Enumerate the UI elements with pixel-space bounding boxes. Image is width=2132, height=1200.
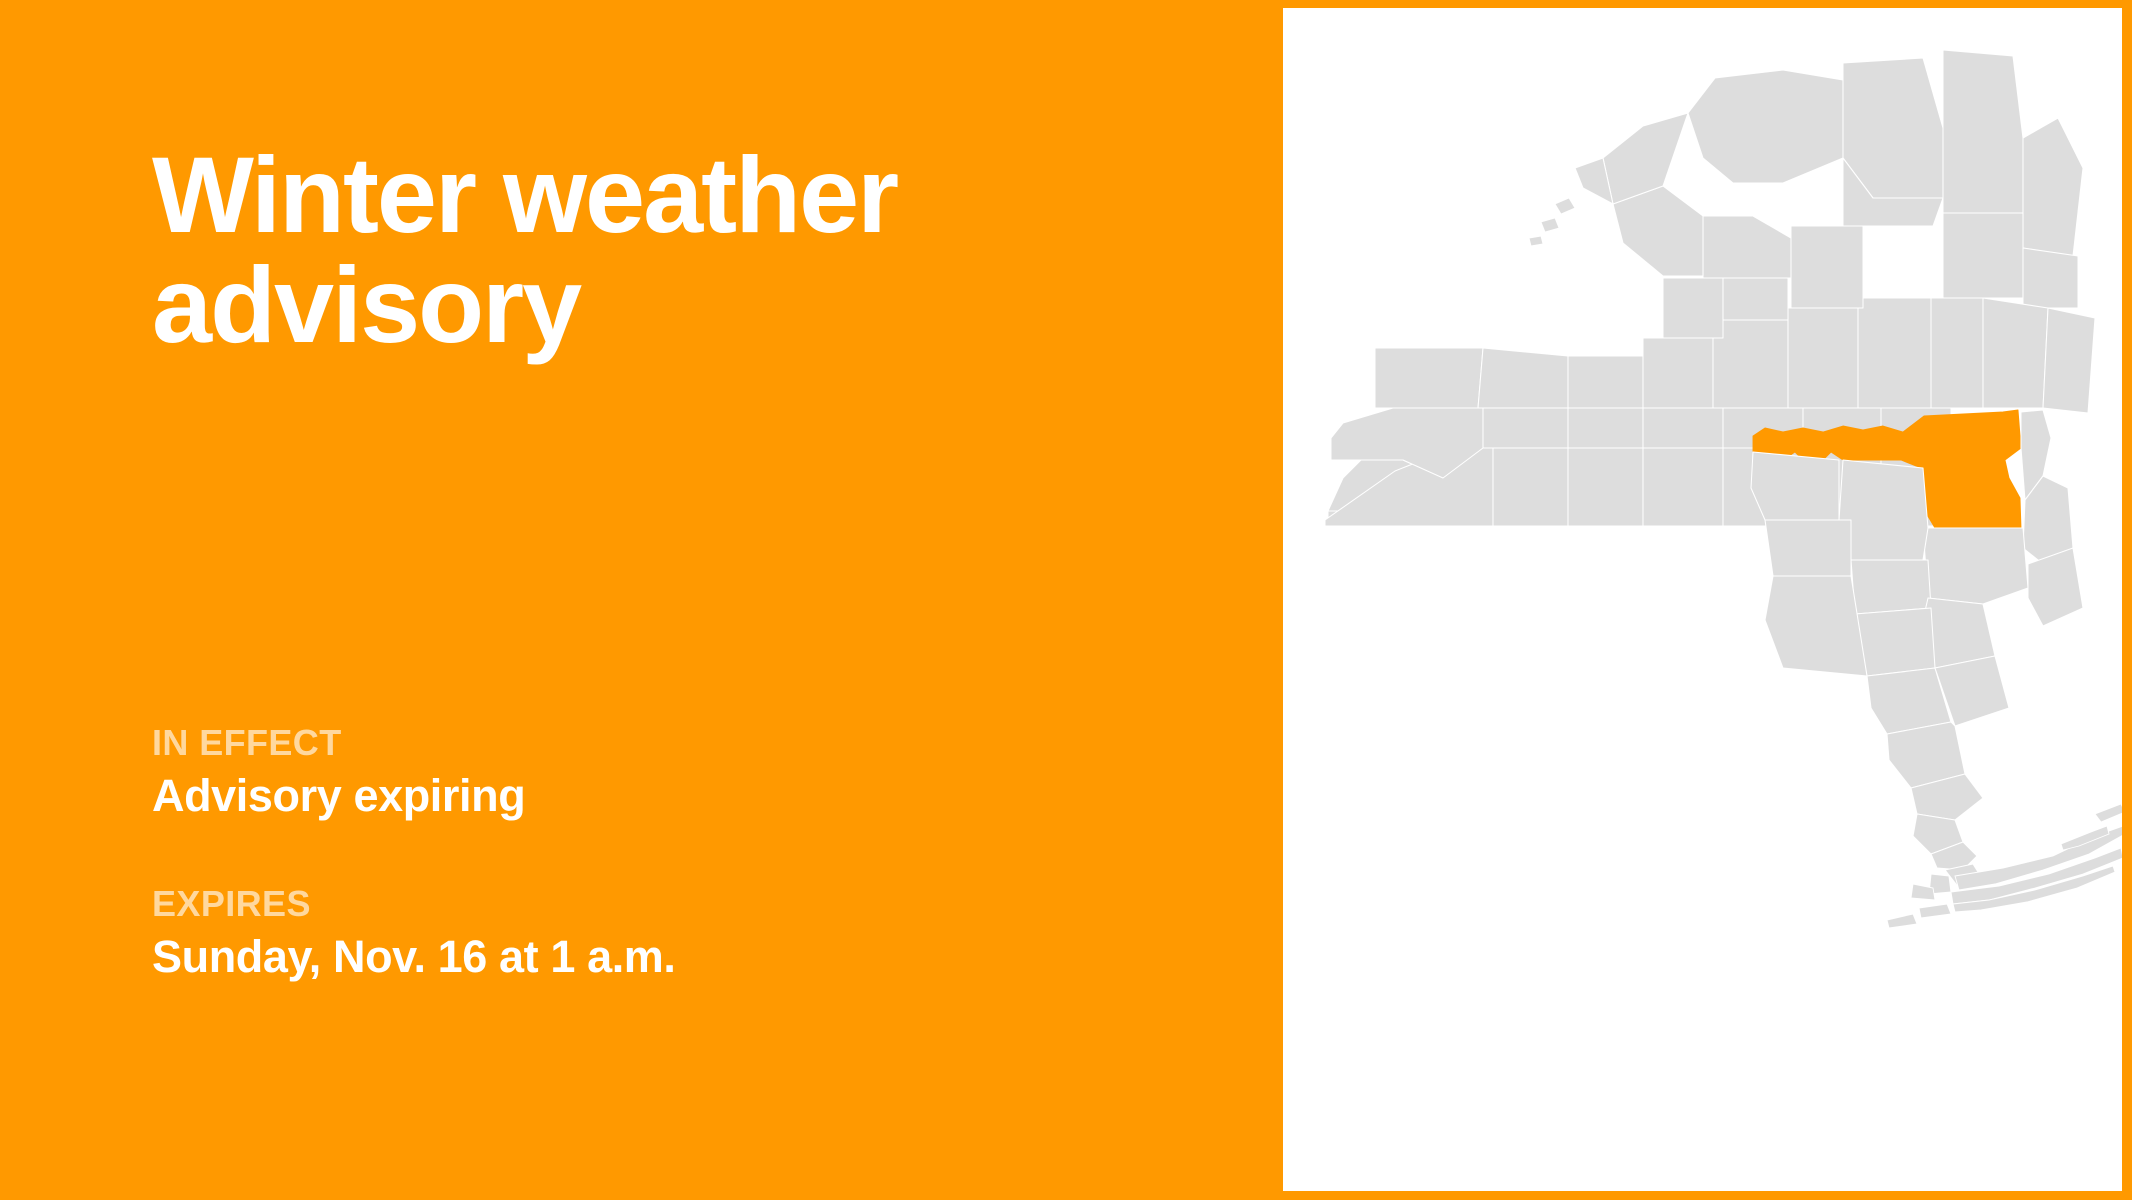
alert-details: IN EFFECT Advisory expiring EXPIRES Sund… <box>152 722 1152 982</box>
weather-alert-card: Winter weather advisory IN EFFECT Adviso… <box>0 0 2132 1200</box>
detail-value-expires: Sunday, Nov. 16 at 1 a.m. <box>152 931 1152 982</box>
detail-label-expires: EXPIRES <box>152 883 1152 925</box>
detail-expires: EXPIRES Sunday, Nov. 16 at 1 a.m. <box>152 883 1152 982</box>
new-york-state-map <box>1283 8 2122 1191</box>
alert-map-panel <box>1283 8 2122 1191</box>
county-shapes <box>1325 50 2122 928</box>
detail-label-in-effect: IN EFFECT <box>152 722 1152 764</box>
page-title: Winter weather advisory <box>152 140 1152 360</box>
detail-value-in-effect: Advisory expiring <box>152 770 1152 821</box>
alert-text-panel: Winter weather advisory IN EFFECT Adviso… <box>0 0 1283 1200</box>
detail-in-effect: IN EFFECT Advisory expiring <box>152 722 1152 821</box>
